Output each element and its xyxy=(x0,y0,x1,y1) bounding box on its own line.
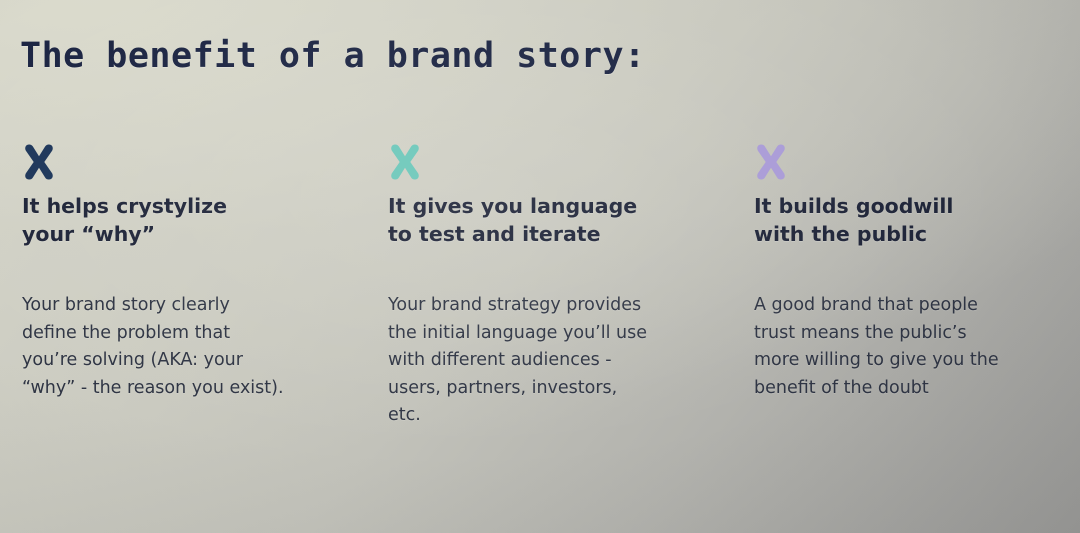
benefit-body: A good brand that people trust means the… xyxy=(754,292,1056,402)
benefit-body: Your brand strategy provides the initial… xyxy=(388,292,690,430)
benefit-heading: It builds goodwill with the public xyxy=(754,192,1054,248)
benefits-columns: It helps crystylize your “why” Your bran… xyxy=(22,143,1060,430)
benefit-body: Your brand story clearly define the prob… xyxy=(22,292,324,402)
benefit-column-3: It builds goodwill with the public A goo… xyxy=(754,143,1080,430)
benefit-heading: It gives you language to test and iterat… xyxy=(388,192,688,248)
slide-canvas: The benefit of a brand story: It helps c… xyxy=(0,0,1080,533)
page-title: The benefit of a brand story: xyxy=(20,36,646,76)
x-mark-icon xyxy=(754,143,788,181)
benefit-column-2: It gives you language to test and iterat… xyxy=(388,143,754,430)
x-mark-icon xyxy=(388,143,422,181)
benefit-column-1: It helps crystylize your “why” Your bran… xyxy=(22,143,388,430)
x-mark-icon xyxy=(22,143,56,181)
benefit-heading: It helps crystylize your “why” xyxy=(22,192,322,248)
